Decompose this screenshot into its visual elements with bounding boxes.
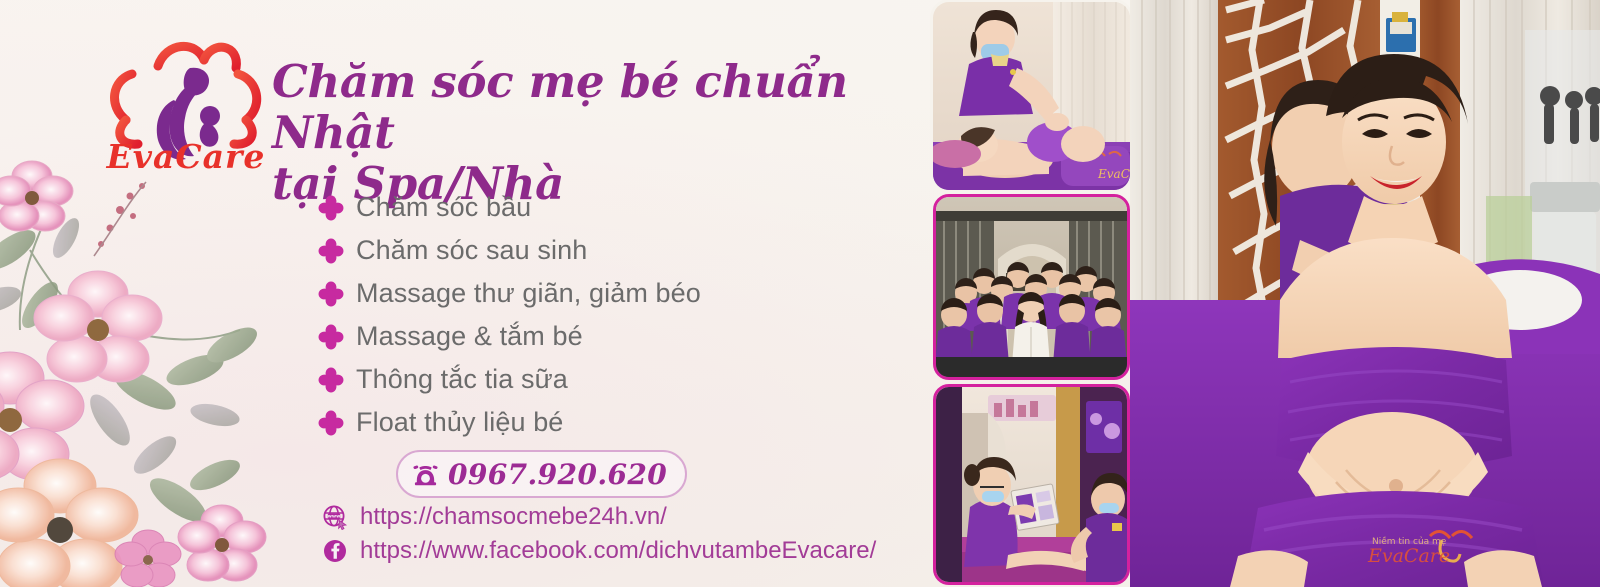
facebook-url: https://www.facebook.com/dichvutambeEvac… (360, 537, 876, 565)
service-label: Chăm sóc bầu (356, 192, 531, 223)
clover-flower-icon (318, 324, 344, 350)
clover-flower-icon (318, 238, 344, 264)
staff-team-photo (933, 194, 1130, 380)
list-item: Chăm sóc sau sinh (318, 229, 938, 272)
svg-text:www: www (328, 515, 341, 520)
promotional-banner: EvaCare Chăm sóc mẹ bé chuẩn Nhật tại Sp… (0, 0, 1600, 587)
phone-badge[interactable]: 0967.920.620 (396, 450, 687, 498)
telephone-icon (412, 461, 439, 488)
list-item: Massage thư giãn, giảm béo (318, 272, 938, 315)
clover-flower-icon (318, 410, 344, 436)
svg-text:EvaCa: EvaCa (1097, 167, 1130, 181)
list-item: Chăm sóc bầu (318, 186, 938, 229)
phone-number: 0967.920.620 (448, 458, 667, 491)
service-label: Chăm sóc sau sinh (356, 235, 587, 266)
contact-links: www https://chamsocmebe24h.vn/ https://w… (322, 502, 876, 570)
service-label: Float thủy liệu bé (356, 407, 563, 438)
clover-flower-icon (318, 195, 344, 221)
mother-and-baby-logo-icon: EvaCare (86, 28, 286, 173)
svg-text:EvaCare: EvaCare (1367, 545, 1450, 567)
svg-text:EvaCare: EvaCare (106, 137, 266, 173)
facebook-link[interactable]: https://www.facebook.com/dichvutambeEvac… (322, 536, 876, 566)
headline-line-1: Chăm sóc mẹ bé chuẩn Nhật (272, 55, 848, 159)
photo-gallery: EvaCa (933, 0, 1130, 587)
website-url: https://chamsocmebe24h.vn/ (360, 503, 667, 531)
services-list: Chăm sóc bầu Chăm sóc sau sinh (318, 186, 938, 444)
list-item: Massage & tắm bé (318, 315, 938, 358)
website-link[interactable]: www https://chamsocmebe24h.vn/ (322, 502, 876, 532)
list-item: Thông tắc tia sữa (318, 358, 938, 401)
prenatal-back-massage-photo: EvaCa (933, 2, 1130, 190)
clover-flower-icon (318, 281, 344, 307)
service-label: Massage thư giãn, giảm béo (356, 278, 701, 309)
svg-text:Niềm tin của mẹ: Niềm tin của mẹ (1372, 536, 1447, 547)
list-item: Float thủy liệu bé (318, 401, 938, 444)
www-globe-icon: www (322, 504, 348, 530)
foot-massage-photo (933, 384, 1130, 585)
facebook-icon (322, 538, 348, 564)
service-label: Massage & tắm bé (356, 321, 583, 352)
service-label: Thông tắc tia sữa (356, 364, 568, 395)
pregnant-client-hero-photo: EvaCare Niềm tin của mẹ (1130, 0, 1600, 587)
clover-flower-icon (318, 367, 344, 393)
